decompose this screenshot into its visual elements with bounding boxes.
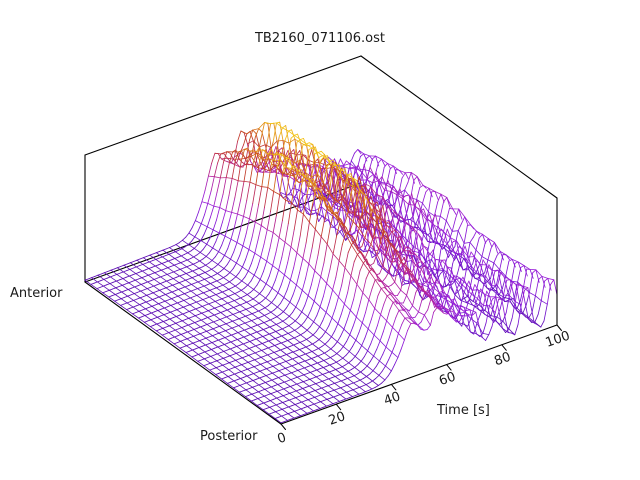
- tick-label-time-40: 40: [382, 389, 403, 409]
- tick-label-time-80: 80: [492, 350, 513, 370]
- figure-canvas: TB2160_071106.ost Anterior Posterior Tim…: [0, 0, 640, 480]
- page-title: TB2160_071106.ost: [254, 31, 385, 46]
- tick-label-time-60: 60: [437, 370, 458, 390]
- tick-label-time-0: 0: [276, 430, 289, 447]
- axis-label-anterior: Anterior: [10, 286, 63, 301]
- tick-label-time-100: 100: [544, 329, 572, 351]
- axis-label-time: Time [s]: [436, 403, 490, 418]
- tick-label-time-20: 20: [327, 409, 348, 429]
- axis-label-posterior: Posterior: [200, 429, 258, 444]
- axis-tick-labels: 020406080100: [276, 329, 573, 448]
- text-layer: TB2160_071106.ost Anterior Posterior Tim…: [0, 0, 640, 480]
